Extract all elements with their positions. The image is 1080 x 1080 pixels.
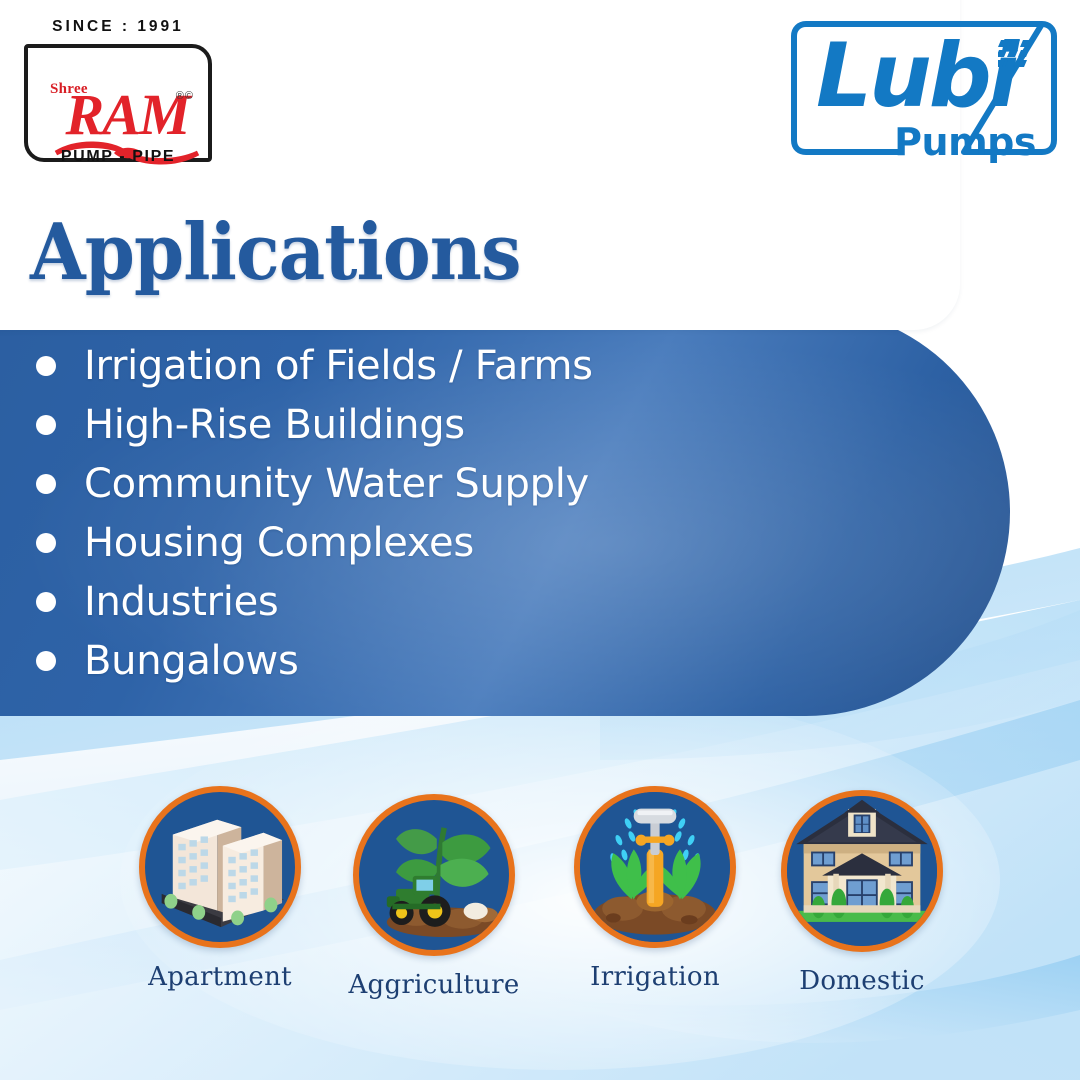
applications-list: Irrigation of Fields / Farms High-Rise B… xyxy=(30,336,890,690)
bullet-dot-icon xyxy=(36,592,56,612)
list-item: High-Rise Buildings xyxy=(30,395,890,454)
list-item-label: Housing Complexes xyxy=(84,520,474,566)
logo-frame: Shree RAM ®© xyxy=(24,44,212,162)
lubi-pumps-logo: Lubi Pumps xyxy=(788,18,1060,170)
shree-ram-logo: SINCE : 1991 Shree RAM ®© PUMP - PIPE xyxy=(18,18,218,168)
list-item: Industries xyxy=(30,572,890,631)
poster-canvas: SINCE : 1991 Shree RAM ®© PUMP - PIPE Lu… xyxy=(0,0,1080,1080)
trademark-text: ®© xyxy=(176,90,194,102)
lubi-sub-wordmark: Pumps xyxy=(894,120,1036,164)
segment-label: Irrigation xyxy=(545,962,765,992)
segment-icon-circle xyxy=(781,790,943,952)
segment-apartment: Apartment xyxy=(110,786,330,992)
list-item: Housing Complexes xyxy=(30,513,890,572)
segment-label: Aggriculture xyxy=(324,970,544,1000)
segment-irrigation: Irrigation xyxy=(545,786,765,992)
grid-dots-icon xyxy=(998,40,1032,68)
sprinkler-icon xyxy=(580,792,730,942)
segment-icon-circle xyxy=(574,786,736,948)
apartment-buildings-icon xyxy=(145,792,295,942)
list-item: Community Water Supply xyxy=(30,454,890,513)
list-item-label: Bungalows xyxy=(84,638,299,684)
tractor-plant-icon xyxy=(359,800,509,950)
segment-agriculture: Aggriculture xyxy=(324,794,544,1000)
bullet-dot-icon xyxy=(36,415,56,435)
segments-row: Apartment xyxy=(0,786,1080,1026)
segment-label: Domestic xyxy=(752,966,972,996)
list-item-label: Community Water Supply xyxy=(84,461,589,507)
house-icon xyxy=(787,796,937,946)
list-item-label: High-Rise Buildings xyxy=(84,402,465,448)
bullet-dot-icon xyxy=(36,474,56,494)
segment-label: Apartment xyxy=(110,962,330,992)
list-item: Bungalows xyxy=(30,631,890,690)
list-item-label: Industries xyxy=(84,579,278,625)
segment-icon-circle xyxy=(139,786,301,948)
list-item: Irrigation of Fields / Farms xyxy=(30,336,890,395)
pump-pipe-tagline: PUMP - PIPE xyxy=(18,148,218,166)
page-title: Applications xyxy=(30,214,521,292)
bullet-dot-icon xyxy=(36,356,56,376)
bullet-dot-icon xyxy=(36,651,56,671)
segment-icon-circle xyxy=(353,794,515,956)
since-text: SINCE : 1991 xyxy=(18,18,218,36)
segment-domestic: Domestic xyxy=(752,790,972,996)
bullet-dot-icon xyxy=(36,533,56,553)
list-item-label: Irrigation of Fields / Farms xyxy=(84,343,593,389)
lubi-wordmark: Lubi xyxy=(816,32,1016,120)
